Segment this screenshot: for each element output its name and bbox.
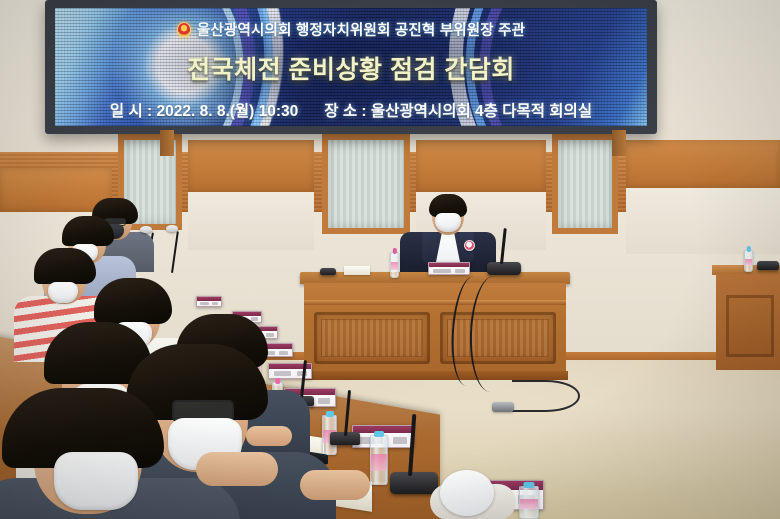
screen-mount-right xyxy=(612,130,626,156)
banner-venue: 장 소 : 울산광역시의회 4층 다목적 회의실 xyxy=(324,99,592,121)
head-table-rail xyxy=(304,300,566,305)
speaker-lapel-badge xyxy=(464,240,475,251)
attendee-face-mask-foreground xyxy=(440,470,494,516)
nameplate-speaker xyxy=(428,262,470,275)
microphone-base-1 xyxy=(390,472,438,494)
bottle-0 xyxy=(519,486,539,519)
head-table-base xyxy=(302,371,568,380)
floor-cable-connector xyxy=(492,402,514,412)
bottle-cap xyxy=(746,246,750,252)
banner-title: 전국체전 준비상황 점검 간담회 xyxy=(187,50,515,86)
device-on-podium xyxy=(757,261,779,270)
attendee-hand-holding-pen-1 xyxy=(196,452,278,486)
led-screen-surface: 울산광역시의회 행정자치위원회 공진혁 부위원장 주관 전국체전 준비상황 점검… xyxy=(55,8,647,126)
attendee-7-hair xyxy=(62,216,114,246)
nameplate-body xyxy=(429,267,469,274)
papers-on-head-table xyxy=(344,266,370,275)
led-banner-display: 울산광역시의회 행정자치위원회 공진혁 부위원장 주관 전국체전 준비상황 점검… xyxy=(45,0,657,134)
side-podium xyxy=(712,265,780,370)
bottle-cap xyxy=(392,248,396,254)
ulsan-council-emblem-icon xyxy=(177,22,191,37)
wood-panel-3 xyxy=(626,140,780,188)
led-text-block: 울산광역시의회 행정자치위원회 공진혁 부위원장 주관 전국체전 준비상황 점검… xyxy=(55,8,647,126)
microphone-head-far-1 xyxy=(140,226,152,233)
bottle-label xyxy=(391,262,398,270)
screen-mount-left xyxy=(160,130,174,156)
microphone-head-far-2 xyxy=(166,225,178,232)
banner-datetime: 일 시 : 2022. 8. 8.(월) 10:30 xyxy=(110,99,298,121)
bottle-podium xyxy=(744,250,753,272)
glass-panel-3 xyxy=(552,134,618,234)
attendee-6-hair xyxy=(34,248,96,284)
wood-panel-2 xyxy=(416,140,546,192)
head-table xyxy=(300,272,570,382)
banner-host-line: 울산광역시의회 행정자치위원회 공진혁 부위원장 주관 xyxy=(177,19,525,40)
bottle-label xyxy=(745,259,752,266)
cream-panel-3 xyxy=(626,188,780,254)
microphone-base-speaker xyxy=(487,262,521,275)
nameplate-title-text xyxy=(433,269,451,273)
attendee-hand-holding-pen-2 xyxy=(300,470,370,500)
bottle-speaker xyxy=(390,252,399,278)
floor-cable-loop xyxy=(512,380,580,412)
bottle-1 xyxy=(370,435,388,485)
cream-panel-1 xyxy=(188,192,314,250)
glass-panel-2 xyxy=(322,134,410,234)
device-on-head-table xyxy=(320,268,336,275)
side-podium-panel xyxy=(726,295,774,357)
nameplate-name-text xyxy=(455,269,465,273)
banner-meta-line: 일 시 : 2022. 8. 8.(월) 10:30 장 소 : 울산광역시의회… xyxy=(110,99,592,121)
attendee-5-hair xyxy=(94,278,172,324)
banner-host-text: 울산광역시의회 행정자치위원회 공진혁 부위원장 주관 xyxy=(197,19,525,40)
meeting-room-photo: 울산광역시의회 행정자치위원회 공진혁 부위원장 주관 전국체전 준비상황 점검… xyxy=(0,0,780,519)
wood-panel-1 xyxy=(188,140,314,192)
attendee-1-face-mask xyxy=(54,452,138,510)
speaker-face-mask xyxy=(435,213,461,232)
